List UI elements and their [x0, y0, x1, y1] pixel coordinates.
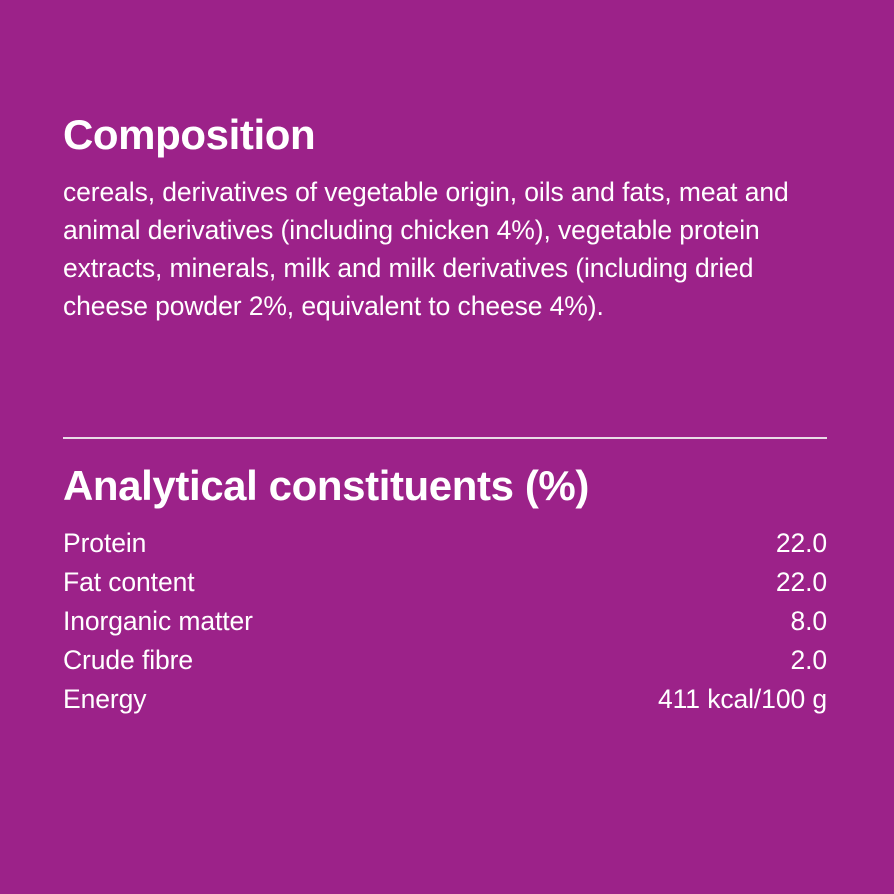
section-divider — [63, 437, 827, 439]
list-item: Fat content 22.0 — [63, 563, 827, 602]
dot-leader — [260, 629, 791, 630]
constituent-label: Energy — [63, 680, 153, 719]
constituent-label: Protein — [63, 524, 153, 563]
list-item: Crude fibre 2.0 — [63, 641, 827, 680]
analytical-constituents-heading: Analytical constituents (%) — [63, 463, 827, 508]
nutrition-label-panel: { "theme": { "background_color": "#9c228… — [0, 0, 894, 894]
list-item: Energy 411 kcal/100 g — [63, 680, 827, 719]
analytical-constituents-section: Analytical constituents (%) Protein 22.0… — [63, 463, 827, 719]
composition-ingredients-text: cereals, derivatives of vegetable origin… — [63, 157, 803, 325]
dot-leader — [153, 707, 658, 708]
composition-section: Composition cereals, derivatives of vege… — [63, 112, 827, 325]
constituents-list: Protein 22.0 Fat content 22.0 Inorganic … — [63, 508, 827, 719]
constituent-value: 411 kcal/100 g — [658, 680, 827, 719]
label-content-panel: Composition cereals, derivatives of vege… — [63, 0, 827, 894]
constituent-value: 22.0 — [776, 524, 827, 563]
constituent-value: 8.0 — [790, 602, 827, 641]
composition-heading: Composition — [63, 112, 827, 157]
constituent-label: Crude fibre — [63, 641, 200, 680]
list-item: Inorganic matter 8.0 — [63, 602, 827, 641]
constituent-label: Fat content — [63, 563, 201, 602]
dot-leader — [200, 668, 790, 669]
dot-leader — [153, 551, 776, 552]
list-item: Protein 22.0 — [63, 524, 827, 563]
dot-leader — [201, 590, 775, 591]
constituent-value: 2.0 — [790, 641, 827, 680]
constituent-label: Inorganic matter — [63, 602, 260, 641]
constituent-value: 22.0 — [776, 563, 827, 602]
